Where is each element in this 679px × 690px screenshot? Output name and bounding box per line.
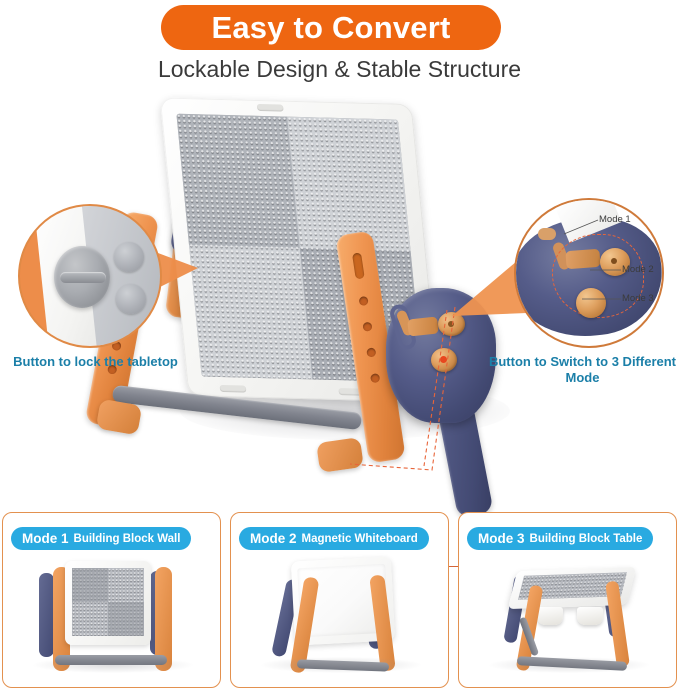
mode-2-number: Mode 2 xyxy=(250,531,297,546)
stud xyxy=(116,284,146,314)
mode-2-description: Magnetic Whiteboard xyxy=(302,533,418,545)
mode-cards: Mode 1 Building Block Wall Mode 2 Magnet… xyxy=(0,512,679,690)
mode-3-description: Building Block Table xyxy=(530,533,643,545)
leg-hole xyxy=(359,296,369,306)
mode-1-number: Mode 1 xyxy=(22,531,69,546)
leg-hole xyxy=(370,373,380,383)
mode-card-2[interactable]: Mode 2 Magnetic Whiteboard xyxy=(230,512,449,688)
mode-label-2: Mode 2 xyxy=(622,264,654,275)
mode-label-1: Mode 1 xyxy=(599,214,631,225)
block-wall-board xyxy=(65,561,151,645)
storage-bin xyxy=(577,607,603,625)
mode-card-3[interactable]: Mode 3 Building Block Table xyxy=(458,512,677,688)
callout-lock-button: Button to lock the tabletop xyxy=(8,196,198,396)
callout-mode-button: Mode 1 Mode 2 Mode 3 Button to Switch to… xyxy=(486,192,679,402)
callout-right-caption: Button to Switch to 3 Different Mode xyxy=(486,354,679,387)
mode-2-figure xyxy=(231,555,449,687)
page-subtitle: Lockable Design & Stable Structure xyxy=(0,56,679,83)
mode-3-figure xyxy=(459,555,677,687)
stud-surface xyxy=(72,568,144,636)
product-stage: Button to lock the tabletop Mode 1 Mode … xyxy=(0,92,679,504)
mode-3-number: Mode 3 xyxy=(478,531,525,546)
figure-shadow xyxy=(489,657,649,673)
leg-hole xyxy=(362,322,372,332)
foot-left xyxy=(96,399,143,436)
mode-1-badge: Mode 1 Building Block Wall xyxy=(11,527,191,550)
callout-left-caption: Button to lock the tabletop xyxy=(8,354,183,370)
mode-card-1[interactable]: Mode 1 Building Block Wall xyxy=(2,512,221,688)
figure-shadow xyxy=(261,657,421,673)
lock-knob-bar xyxy=(60,272,106,283)
mode-2-badge: Mode 2 Magnetic Whiteboard xyxy=(239,527,429,550)
page-title: Easy to Convert xyxy=(211,10,450,46)
foot-right xyxy=(316,437,364,473)
leg-hole xyxy=(366,347,376,357)
figure-shadow xyxy=(33,657,193,673)
hinge-tab xyxy=(407,316,439,336)
mode-1-figure xyxy=(3,555,221,687)
board-clip xyxy=(257,104,284,112)
board-clip xyxy=(220,385,247,393)
title-banner: Easy to Convert xyxy=(161,5,501,50)
board-quadrant xyxy=(108,602,144,636)
callout-left-magnifier xyxy=(18,204,162,348)
leg-slot xyxy=(352,252,365,279)
mode-1-description: Building Block Wall xyxy=(74,533,181,545)
lock-knob-photo xyxy=(20,206,160,346)
mode-label-3: Mode 3 xyxy=(622,293,654,304)
mode-3-badge: Mode 3 Building Block Table xyxy=(467,527,653,550)
board-quadrant xyxy=(72,568,108,602)
lock-knob[interactable] xyxy=(54,246,110,308)
storage-bin xyxy=(537,607,563,625)
header: Easy to Convert Lockable Design & Stable… xyxy=(0,0,679,92)
stud xyxy=(114,242,144,272)
navy-arm xyxy=(39,573,54,657)
bolt-pin xyxy=(440,356,447,363)
